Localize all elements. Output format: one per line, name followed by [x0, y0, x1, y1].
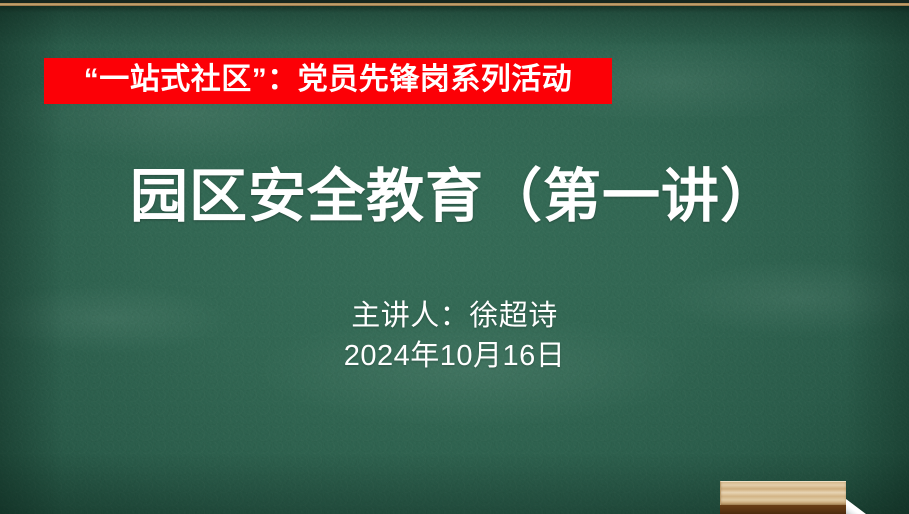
eraser-wood-body — [720, 481, 846, 505]
eraser-dark-base — [720, 505, 846, 514]
banner-heading-label: “一站式社区”：党员先锋岗系列活动 — [84, 65, 573, 95]
frame-inner-shadow — [0, 6, 909, 13]
chalkboard-eraser-icon — [720, 481, 846, 514]
presenter-name: 主讲人：徐超诗 — [0, 296, 909, 336]
banner-heading: “一站式社区”：党员先锋岗系列活动 — [44, 58, 612, 104]
presentation-date: 2024年10月16日 — [0, 336, 909, 376]
presenter-info-block: 主讲人：徐超诗 2024年10月16日 — [0, 296, 909, 376]
chalkboard-title-slide: “一站式社区”：党员先锋岗系列活动 园区安全教育（第一讲） 主讲人：徐超诗 20… — [0, 0, 909, 514]
page-title: 园区安全教育（第一讲） — [0, 165, 909, 230]
